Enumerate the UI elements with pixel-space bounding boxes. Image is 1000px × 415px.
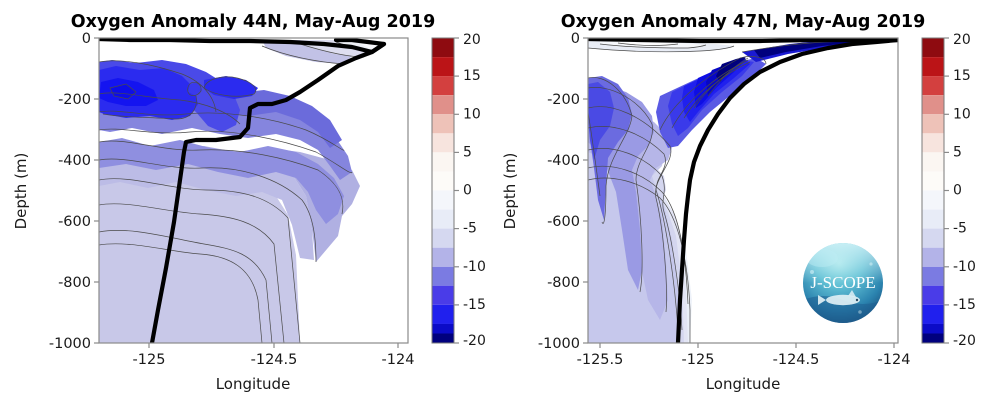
panel-44n: Oxygen Anomaly 44N, May-Aug 2019 xyxy=(12,12,435,393)
colorbar-left-tick-10: 10 xyxy=(463,106,481,122)
colorbar-left-tick-5: 5 xyxy=(463,144,472,160)
panel-47n-ylabel: Depth (m) xyxy=(501,153,519,230)
panel-44n-ytick-400: -400 xyxy=(58,153,91,169)
panel-47n-xtick-1255: -125.5 xyxy=(577,352,624,368)
colorbar-right-tick-15: 15 xyxy=(953,68,971,84)
contour-figure: Oxygen Anomaly 44N, May-Aug 2019 xyxy=(0,0,1000,415)
panel-44n-ytick-800: -800 xyxy=(58,275,91,291)
colorbar-right-tick-0: 0 xyxy=(953,183,962,199)
panel-47n-ytick-200: -200 xyxy=(547,92,580,108)
colorbar-right-tick-m5: -5 xyxy=(953,221,967,237)
panel-44n-xlabel: Longitude xyxy=(216,375,291,393)
colorbar-left-tick-20: 20 xyxy=(463,32,481,48)
logo-bubble-2 xyxy=(869,262,872,265)
colorbar-right-tick-m15: -15 xyxy=(953,297,976,313)
colorbar-left-tick-m10: -10 xyxy=(463,259,486,275)
panel-44n-xtick-125: -125 xyxy=(133,352,166,368)
panel-44n-ytick-0: 0 xyxy=(82,31,91,47)
panel-47n-ytick-1000: -1000 xyxy=(538,336,580,352)
panel-47n-ytick-400: -400 xyxy=(547,153,580,169)
jscope-logo: J-SCOPE xyxy=(803,243,883,323)
colorbar-left-tick-m20: -20 xyxy=(463,333,486,349)
colorbar-right-ticks: 20 15 10 5 0 -5 -10 -15 -20 xyxy=(944,32,976,349)
panel-44n-title: Oxygen Anomaly 44N, May-Aug 2019 xyxy=(71,12,436,32)
colorbar-right: 20 15 10 5 0 -5 -10 -15 -20 xyxy=(922,32,976,349)
panel-47n-xaxis: -125.5 -125 -124.5 -124 Longitude xyxy=(577,343,911,393)
colorbar-right-tick-m20: -20 xyxy=(953,333,976,349)
panel-44n-xtick-124: -124 xyxy=(382,352,415,368)
panel-47n-xtick-124: -124 xyxy=(878,352,911,368)
colorbar-left-tick-0: 0 xyxy=(463,183,472,199)
panel-44n-xtick-1245: -124.5 xyxy=(251,352,298,368)
panel-47n-xtick-125: -125 xyxy=(682,352,715,368)
panel-44n-xaxis: -125 -124.5 -124 Longitude xyxy=(133,343,415,393)
panel-47n-ytick-600: -600 xyxy=(547,214,580,230)
colorbar-right-tick-m10: -10 xyxy=(953,259,976,275)
panel-44n-ytick-1000: -1000 xyxy=(49,336,91,352)
panel-47n-surface-line xyxy=(588,39,898,41)
panel-44n-ylabel: Depth (m) xyxy=(12,153,30,230)
colorbar-left-tick-m15: -15 xyxy=(463,297,486,313)
panel-47n-title: Oxygen Anomaly 47N, May-Aug 2019 xyxy=(561,12,926,32)
colorbar-left-ticks: 20 15 10 5 0 -5 -10 -15 -20 xyxy=(454,32,486,349)
panel-47n-ytick-0: 0 xyxy=(571,31,580,47)
colorbar-right-tick-5: 5 xyxy=(953,144,962,160)
colorbar-left-tick-15: 15 xyxy=(463,68,481,84)
panel-47n-ytick-800: -800 xyxy=(547,275,580,291)
panel-47n: Oxygen Anomaly 47N, May-Aug 2019 xyxy=(501,12,925,393)
panel-44n-yaxis: 0 -200 -400 -600 -800 -1000 Depth (m) xyxy=(12,31,99,352)
colorbar-right-tick-20: 20 xyxy=(953,32,971,48)
colorbar-left-swatches xyxy=(432,38,454,343)
panel-44n-ytick-200: -200 xyxy=(58,92,91,108)
colorbar-left-tick-m5: -5 xyxy=(463,221,477,237)
panel-47n-yaxis: 0 -200 -400 -600 -800 -1000 Depth (m) xyxy=(501,31,588,352)
colorbar-right-swatches xyxy=(922,38,944,343)
jscope-logo-text: J-SCOPE xyxy=(810,273,875,292)
colorbar-left: 20 15 10 5 0 -5 -10 -15 -20 xyxy=(432,32,486,349)
panel-44n-ytick-600: -600 xyxy=(58,214,91,230)
logo-bubble-3 xyxy=(858,310,862,314)
colorbar-right-tick-10: 10 xyxy=(953,106,971,122)
figure-container: Oxygen Anomaly 44N, May-Aug 2019 xyxy=(0,0,1000,415)
panel-47n-xlabel: Longitude xyxy=(706,375,781,393)
panel-47n-xtick-1245: -124.5 xyxy=(773,352,820,368)
